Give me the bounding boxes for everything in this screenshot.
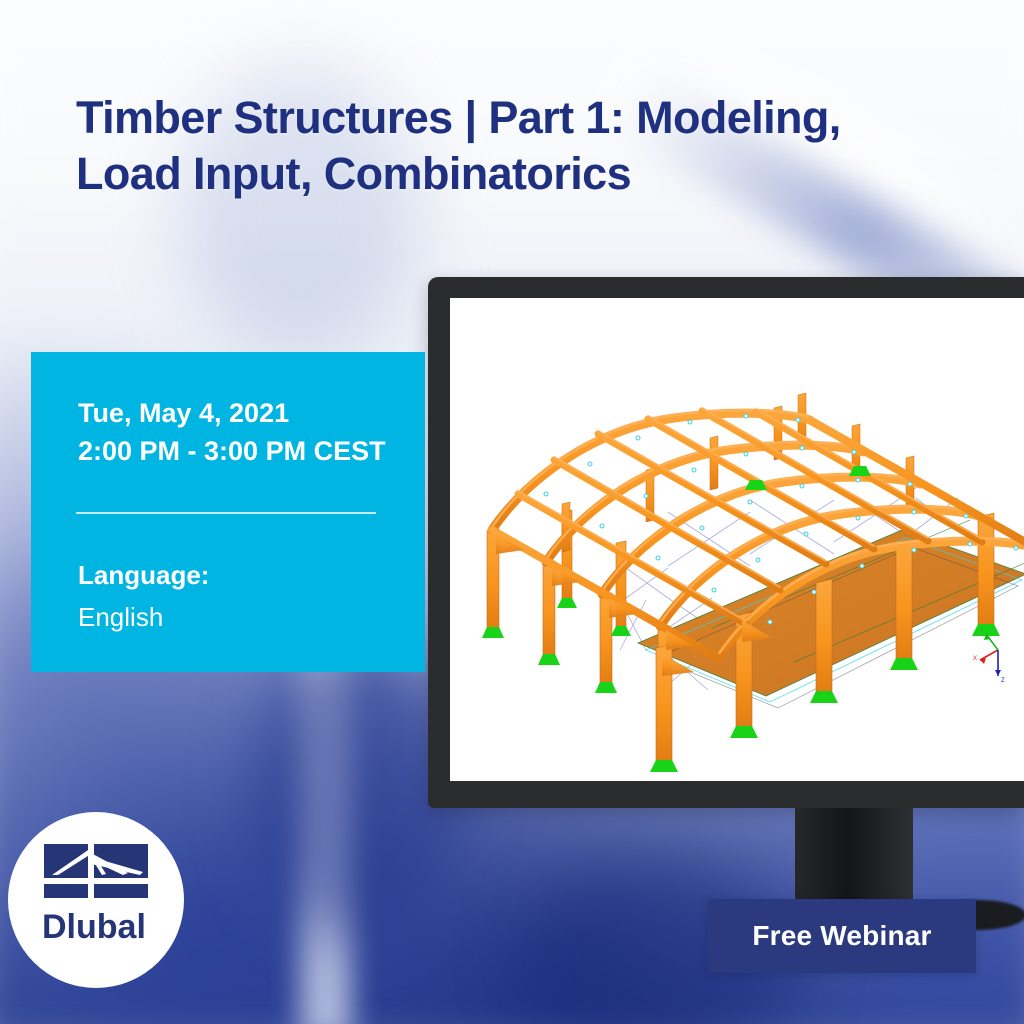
language-label: Language: — [78, 560, 209, 591]
coordinate-axis-indicator: X Y Z — [973, 628, 1005, 684]
dlubal-logo: Dlubal — [8, 812, 184, 988]
axis-label-x: X — [973, 656, 977, 662]
free-webinar-label: Free Webinar — [752, 920, 931, 952]
event-date: Tue, May 4, 2021 — [78, 394, 478, 432]
event-time: 2:00 PM - 3:00 PM CEST — [78, 432, 478, 470]
free-webinar-button[interactable]: Free Webinar — [708, 899, 976, 973]
event-info-panel: Tue, May 4, 2021 2:00 PM - 3:00 PM CEST … — [31, 352, 425, 672]
page-title: Timber Structures | Part 1: Modeling, Lo… — [76, 90, 956, 202]
page-title-line-2: Load Input, Combinatorics — [76, 146, 956, 202]
axis-label-y: Y — [980, 628, 984, 634]
bridge-icon — [44, 844, 148, 904]
timber-structure-3d-model: X Y Z — [450, 298, 1024, 781]
panel-divider — [76, 512, 376, 514]
webinar-promo-card: Timber Structures | Part 1: Modeling, Lo… — [0, 0, 1024, 1024]
monitor-screen: X Y Z — [450, 298, 1024, 781]
axis-label-z: Z — [1001, 678, 1005, 684]
language-value: English — [78, 602, 163, 633]
dlubal-wordmark: Dlubal — [42, 908, 162, 947]
monitor: X Y Z — [428, 277, 1024, 808]
page-title-line-1: Timber Structures | Part 1: Modeling, — [76, 90, 956, 146]
event-datetime: Tue, May 4, 2021 2:00 PM - 3:00 PM CEST — [78, 394, 478, 471]
